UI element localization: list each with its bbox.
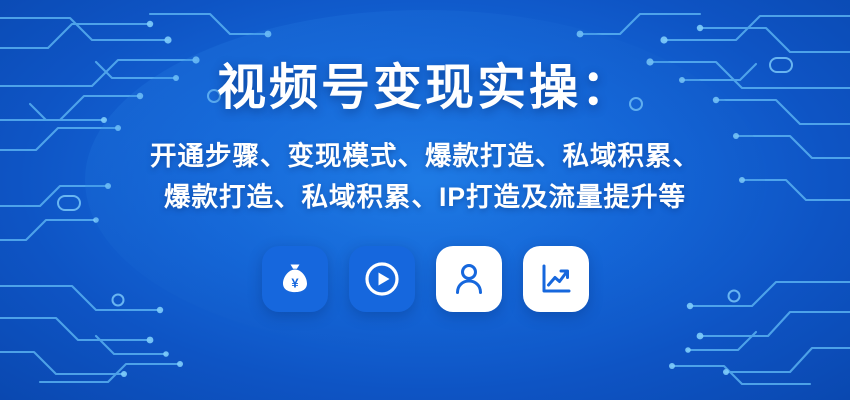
- user-person-icon: [449, 259, 489, 299]
- money-bag-icon-tile[interactable]: ¥: [262, 246, 328, 312]
- page-title: 视频号变现实操：: [217, 60, 633, 116]
- growth-chart-icon-tile[interactable]: [523, 246, 589, 312]
- svg-text:¥: ¥: [291, 276, 299, 291]
- growth-chart-icon: [536, 259, 576, 299]
- money-bag-icon: ¥: [275, 259, 315, 299]
- play-button-icon: [362, 259, 402, 299]
- user-person-icon-tile[interactable]: [436, 246, 502, 312]
- subtitle-line-1: 开通步骤、变现模式、爆款打造、私域积累、: [150, 136, 700, 177]
- subtitle-line-2: 爆款打造、私域积累、IP打造及流量提升等: [150, 177, 700, 218]
- banner-content: 视频号变现实操： 开通步骤、变现模式、爆款打造、私域积累、 爆款打造、私域积累、…: [0, 0, 850, 400]
- subtitle-block: 开通步骤、变现模式、爆款打造、私域积累、 爆款打造、私域积累、IP打造及流量提升…: [150, 136, 700, 218]
- feature-icon-row: ¥: [262, 246, 589, 312]
- play-button-icon-tile[interactable]: [349, 246, 415, 312]
- promo-banner: 视频号变现实操： 开通步骤、变现模式、爆款打造、私域积累、 爆款打造、私域积累、…: [0, 0, 850, 400]
